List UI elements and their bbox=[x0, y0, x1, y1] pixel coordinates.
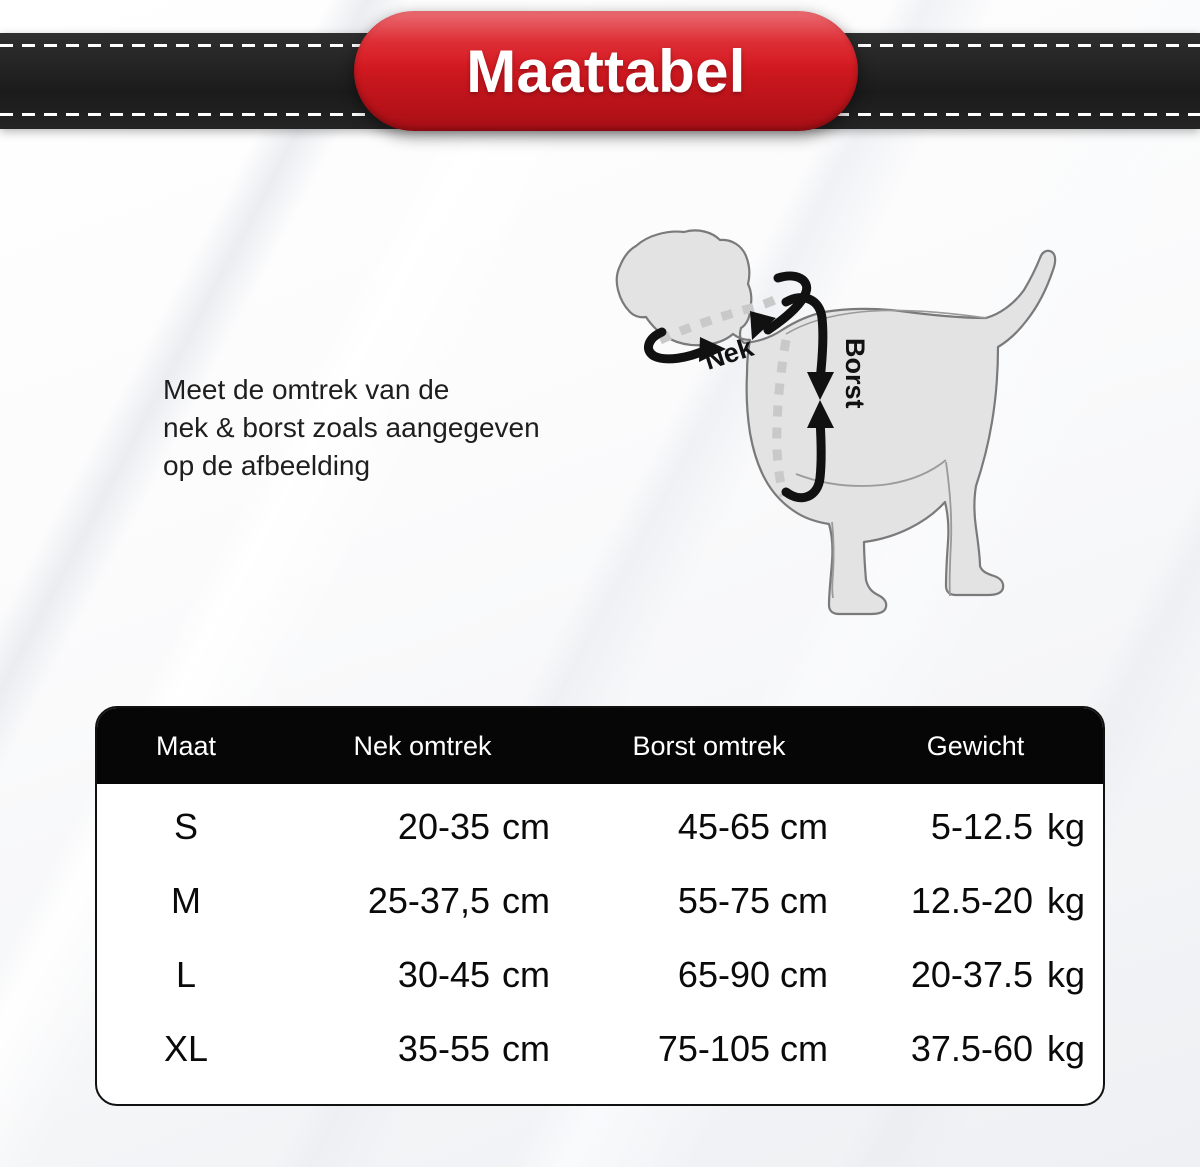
table-header-row: Maat Nek omtrek Borst omtrek Gewicht bbox=[97, 708, 1103, 784]
cell-chest-unit: cm bbox=[770, 954, 848, 996]
instruction-line-1: Meet de omtrek van de bbox=[163, 371, 603, 409]
instruction-line-3: op de afbeelding bbox=[163, 447, 603, 485]
cell-size: L bbox=[97, 954, 275, 996]
cell-chest-value: 65-90 bbox=[570, 954, 770, 996]
size-table: Maat Nek omtrek Borst omtrek Gewicht S 2… bbox=[95, 706, 1105, 1106]
column-header-chest: Borst omtrek bbox=[570, 731, 848, 762]
dog-measurement-illustration: Nek Borst bbox=[600, 222, 1100, 642]
cell-chest-unit: cm bbox=[770, 806, 848, 848]
table-row: S 20-35 cm 45-65 cm 5-12.5 kg bbox=[97, 790, 1103, 864]
column-header-weight: Gewicht bbox=[848, 731, 1103, 762]
cell-neck-value: 35-55 bbox=[275, 1028, 490, 1070]
cell-weight-unit: kg bbox=[1033, 954, 1103, 996]
table-row: L 30-45 cm 65-90 cm 20-37.5 kg bbox=[97, 938, 1103, 1012]
cell-weight-value: 37.5-60 bbox=[848, 1028, 1033, 1070]
table-row: M 25-37,5 cm 55-75 cm 12.5-20 kg bbox=[97, 864, 1103, 938]
cell-chest-value: 55-75 bbox=[570, 880, 770, 922]
cell-neck-unit: cm bbox=[490, 880, 570, 922]
cell-neck-unit: cm bbox=[490, 806, 570, 848]
cell-neck-value: 25-37,5 bbox=[275, 880, 490, 922]
cell-chest-unit: cm bbox=[770, 880, 848, 922]
title-pill: Maattabel bbox=[354, 11, 858, 131]
table-row: XL 35-55 cm 75-105 cm 37.5-60 kg bbox=[97, 1012, 1103, 1086]
dog-silhouette bbox=[617, 230, 1055, 614]
cell-chest-value: 45-65 bbox=[570, 806, 770, 848]
chest-label: Borst bbox=[840, 338, 870, 409]
cell-weight-value: 5-12.5 bbox=[848, 806, 1033, 848]
cell-neck-value: 20-35 bbox=[275, 806, 490, 848]
cell-size: S bbox=[97, 806, 275, 848]
cell-neck-unit: cm bbox=[490, 1028, 570, 1070]
cell-neck-value: 30-45 bbox=[275, 954, 490, 996]
table-body: S 20-35 cm 45-65 cm 5-12.5 kg M 25-37,5 … bbox=[97, 784, 1103, 1086]
cell-weight-value: 12.5-20 bbox=[848, 880, 1033, 922]
cell-weight-unit: kg bbox=[1033, 1028, 1103, 1070]
cell-chest-value: 75-105 bbox=[570, 1028, 770, 1070]
cell-weight-value: 20-37.5 bbox=[848, 954, 1033, 996]
page-title: Maattabel bbox=[466, 37, 745, 106]
cell-size: XL bbox=[97, 1028, 275, 1070]
instruction-text: Meet de omtrek van de nek & borst zoals … bbox=[163, 371, 603, 485]
column-header-size: Maat bbox=[97, 731, 275, 762]
cell-chest-unit: cm bbox=[770, 1028, 848, 1070]
instruction-line-2: nek & borst zoals aangegeven bbox=[163, 409, 603, 447]
column-header-neck: Nek omtrek bbox=[275, 731, 570, 762]
cell-neck-unit: cm bbox=[490, 954, 570, 996]
cell-weight-unit: kg bbox=[1033, 806, 1103, 848]
size-chart-page: Maattabel Meet de omtrek van de nek & bo… bbox=[0, 0, 1200, 1167]
cell-size: M bbox=[97, 880, 275, 922]
cell-weight-unit: kg bbox=[1033, 880, 1103, 922]
